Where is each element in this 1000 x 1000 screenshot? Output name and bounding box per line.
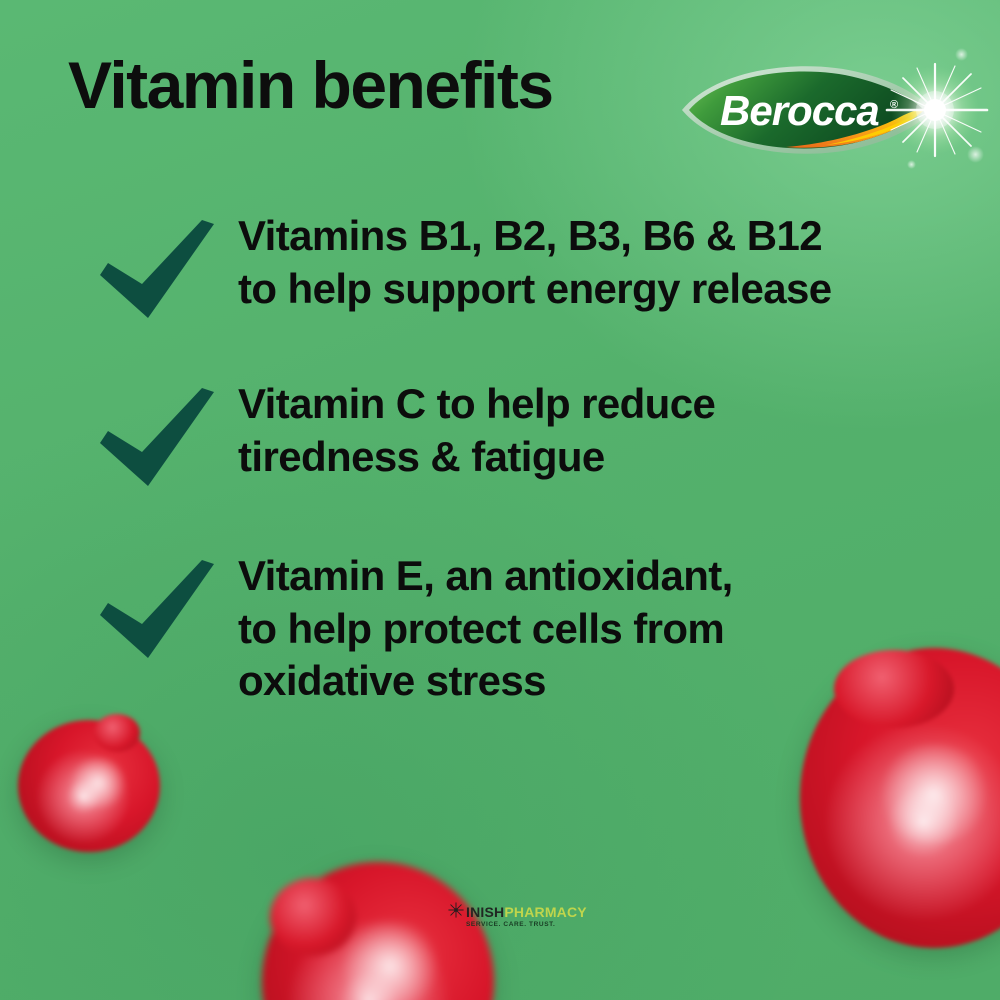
- benefits-list: Vitamins B1, B2, B3, B6 & B12 to help su…: [92, 210, 952, 708]
- berocca-logo-svg: Berocca ®: [676, 60, 976, 160]
- berocca-logo: Berocca ®: [676, 60, 976, 160]
- logo-sparkle-icon: [887, 64, 987, 156]
- sparkle-star-icon: [448, 902, 464, 918]
- watermark-name-row: INISH PHARMACY: [448, 902, 588, 919]
- berry-stem-nub: [834, 650, 954, 728]
- page-title: Vitamin benefits: [68, 52, 553, 118]
- logo-wordmark: Berocca: [720, 87, 879, 134]
- berry-highlight: [66, 758, 130, 808]
- watermark: INISH PHARMACY SERVICE. CARE. TRUST.: [448, 902, 588, 944]
- berry-stem-nub: [94, 714, 140, 752]
- bokeh-dot: [907, 160, 916, 169]
- poster-canvas: Vitamin benefits: [0, 0, 1000, 1000]
- watermark-brand-secondary: PHARMACY: [504, 905, 587, 919]
- list-item: Vitamin C to help reduce tiredness & fat…: [92, 378, 952, 484]
- watermark-brand-primary: INISH: [466, 905, 504, 919]
- list-item: Vitamin E, an antioxidant, to help prote…: [92, 550, 952, 709]
- benefit-text: Vitamins B1, B2, B3, B6 & B12 to help su…: [238, 210, 952, 316]
- watermark-tagline: SERVICE. CARE. TRUST.: [466, 921, 588, 928]
- bokeh-dot: [955, 48, 968, 61]
- berry-small-left: [18, 720, 160, 852]
- bokeh-dot: [967, 146, 984, 163]
- benefit-text: Vitamin C to help reduce tiredness & fat…: [238, 378, 952, 484]
- check-icon: [96, 558, 222, 666]
- check-icon: [96, 218, 222, 326]
- list-item: Vitamins B1, B2, B3, B6 & B12 to help su…: [92, 210, 952, 316]
- berry-highlight: [874, 744, 994, 844]
- check-icon: [96, 386, 222, 494]
